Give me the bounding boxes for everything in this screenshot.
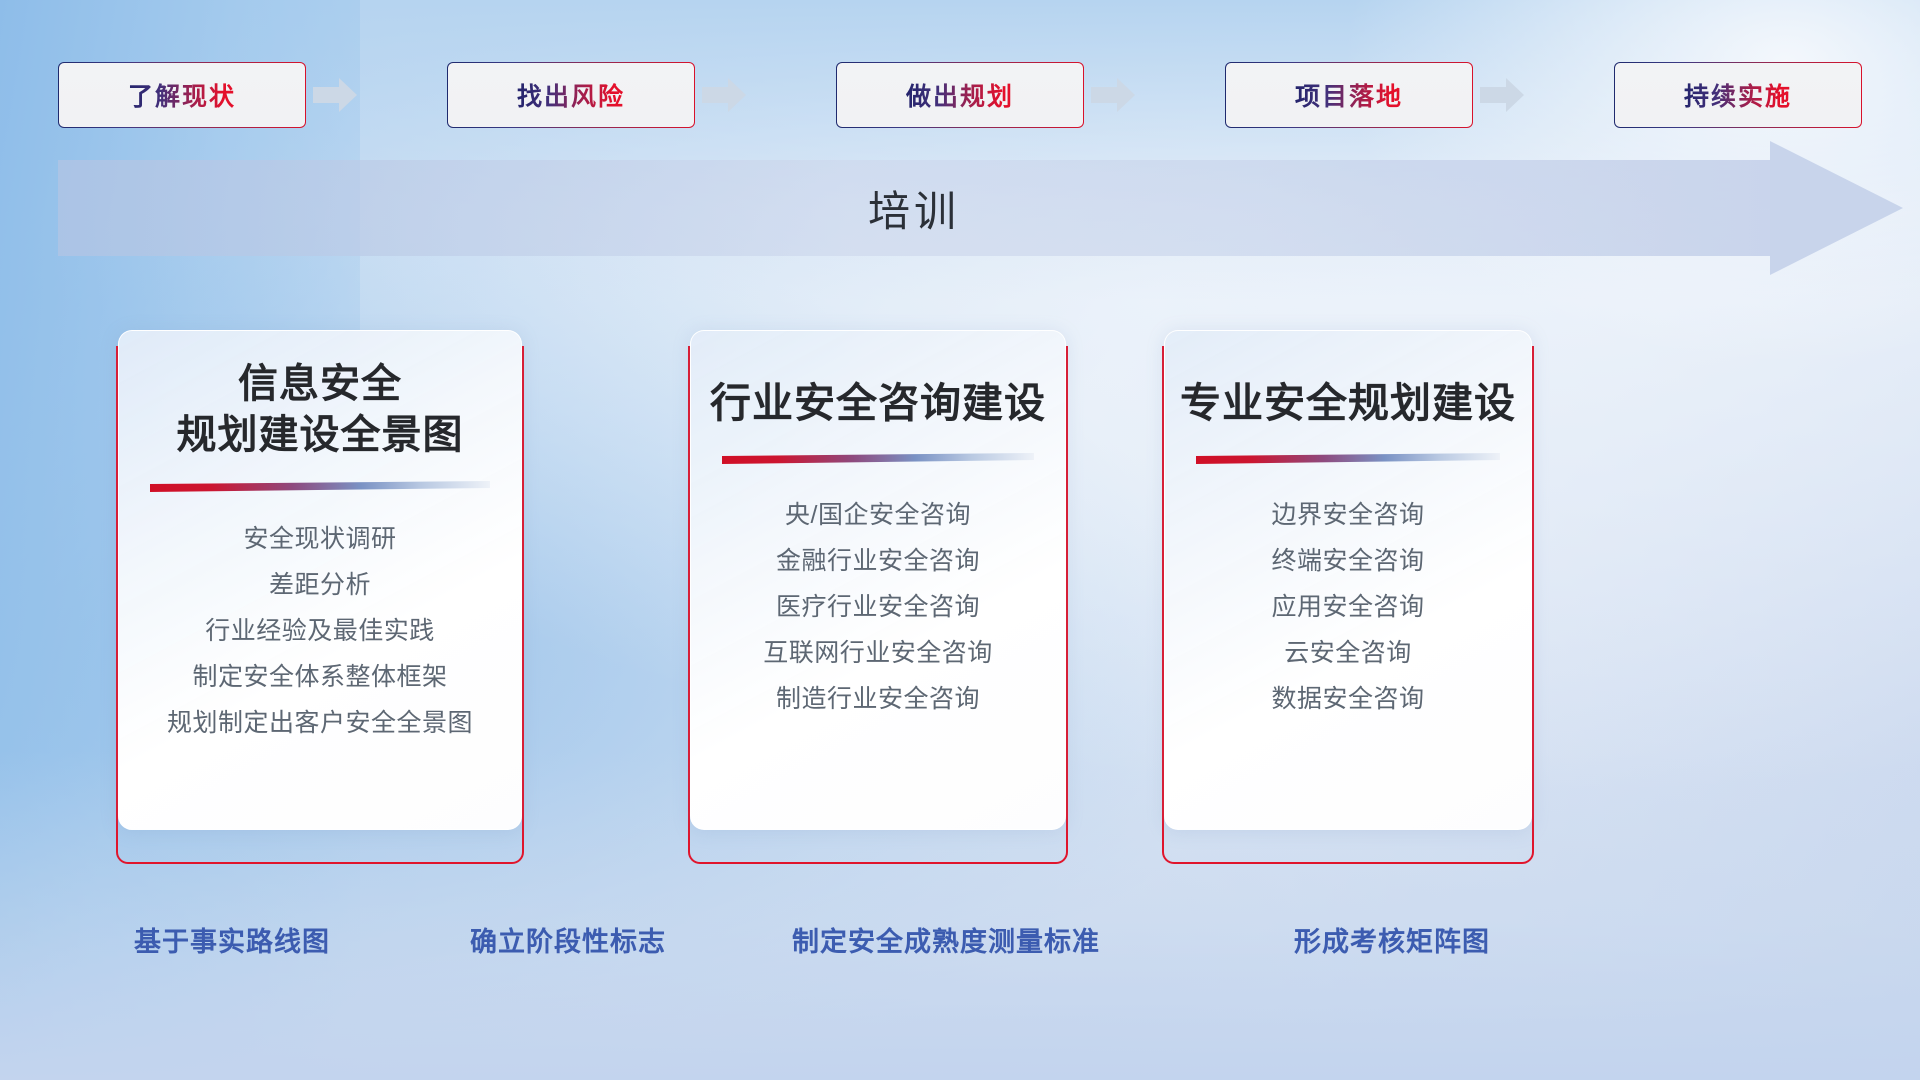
arrow-right-icon	[1476, 75, 1528, 115]
card-list-item: 行业经验及最佳实践	[205, 609, 435, 655]
step-box-2[interactable]: 找出风险	[447, 62, 695, 128]
card-list-item: 互联网行业安全咨询	[763, 631, 993, 677]
card-list-item: 安全现状调研	[243, 517, 396, 563]
banner-title: 培训	[58, 160, 1770, 256]
card-divider-rule	[1196, 453, 1500, 467]
card-list-item: 终端安全咨询	[1271, 539, 1424, 585]
step-label: 项目落地	[1295, 77, 1403, 113]
card-list-item: 云安全咨询	[1284, 631, 1412, 677]
card-list-item: 医疗行业安全咨询	[776, 585, 980, 631]
card-list-item: 差距分析	[269, 563, 371, 609]
card-list-item: 规划制定出客户安全全景图	[167, 701, 473, 747]
arrow-right-icon	[698, 75, 750, 115]
footer-label-row: 基于事实路线图确立阶段性标志制定安全成熟度测量标准形成考核矩阵图	[0, 920, 1920, 980]
process-step-row: 了解现状找出风险做出规划项目落地持续实施	[58, 62, 1862, 128]
card-item-list: 央/国企安全咨询金融行业安全咨询医疗行业安全咨询互联网行业安全咨询制造行业安全咨…	[691, 493, 1065, 723]
card-title: 专业安全规划建设	[1180, 377, 1516, 429]
card-title: 行业安全咨询建设	[710, 377, 1046, 429]
footer-label-2: 确立阶段性标志	[470, 920, 666, 959]
card-surface: 信息安全 规划建设全景图安全现状调研差距分析行业经验及最佳实践制定安全体系整体框…	[118, 330, 522, 830]
step-box-5[interactable]: 持续实施	[1614, 62, 1862, 128]
step-box-1[interactable]: 了解现状	[58, 62, 306, 128]
card-divider-rule	[722, 453, 1034, 467]
step-box-3[interactable]: 做出规划	[836, 62, 1084, 128]
arrow-right-icon	[1087, 75, 1139, 115]
step-label: 找出风险	[517, 77, 625, 113]
card-list-item: 数据安全咨询	[1271, 677, 1424, 723]
card-list-item: 制造行业安全咨询	[776, 677, 980, 723]
card-list-item: 边界安全咨询	[1271, 493, 1424, 539]
step-label: 持续实施	[1684, 77, 1792, 113]
card-divider-rule	[150, 481, 490, 495]
card-surface: 行业安全咨询建设央/国企安全咨询金融行业安全咨询医疗行业安全咨询互联网行业安全咨…	[690, 330, 1066, 830]
card-list-item: 金融行业安全咨询	[776, 539, 980, 585]
arrow-right-icon	[309, 75, 361, 115]
step-label: 做出规划	[906, 77, 1014, 113]
card-list-item: 央/国企安全咨询	[785, 493, 971, 539]
capability-card-row: 信息安全 规划建设全景图安全现状调研差距分析行业经验及最佳实践制定安全体系整体框…	[0, 330, 1920, 890]
banner-arrow-right-icon	[1770, 141, 1903, 275]
card-list-item: 应用安全咨询	[1271, 585, 1424, 631]
step-box-4[interactable]: 项目落地	[1225, 62, 1473, 128]
footer-label-1: 基于事实路线图	[134, 920, 330, 959]
footer-label-4: 形成考核矩阵图	[1294, 920, 1490, 959]
card-title: 信息安全 规划建设全景图	[177, 359, 464, 461]
card-list-item: 制定安全体系整体框架	[192, 655, 447, 701]
card-item-list: 边界安全咨询终端安全咨询应用安全咨询云安全咨询数据安全咨询	[1165, 493, 1531, 723]
card-item-list: 安全现状调研差距分析行业经验及最佳实践制定安全体系整体框架规划制定出客户安全全景…	[119, 517, 521, 747]
footer-label-3: 制定安全成熟度测量标准	[792, 920, 1100, 959]
card-surface: 专业安全规划建设边界安全咨询终端安全咨询应用安全咨询云安全咨询数据安全咨询	[1164, 330, 1532, 830]
step-label: 了解现状	[128, 77, 236, 113]
training-banner-arrow: 培训	[58, 160, 1858, 256]
